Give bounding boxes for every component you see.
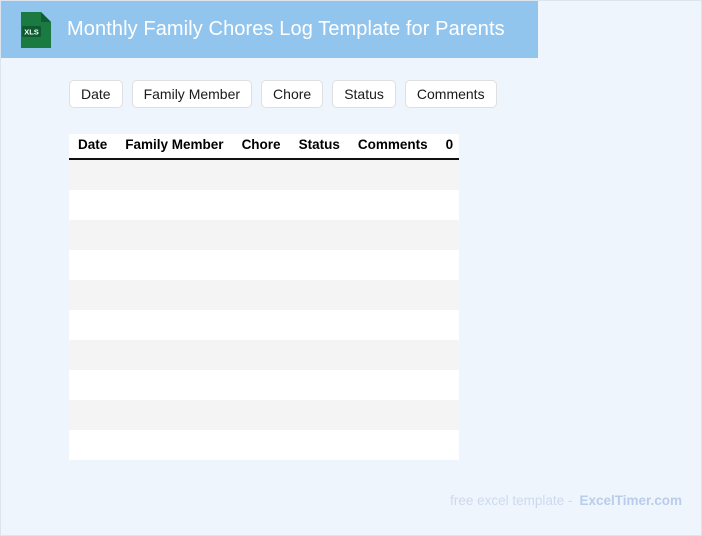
column-header-date[interactable]: Date [69, 134, 116, 159]
table-header: Date Family Member Chore Status Comments… [69, 134, 459, 159]
cell-date[interactable] [69, 340, 116, 370]
cell-family-member[interactable] [116, 159, 232, 190]
cell-count[interactable] [437, 310, 460, 340]
cell-family-member[interactable] [116, 340, 232, 370]
table-body [69, 159, 459, 460]
cell-count[interactable] [437, 370, 460, 400]
cell-date[interactable] [69, 190, 116, 220]
cell-count[interactable] [437, 400, 460, 430]
cell-chore[interactable] [233, 220, 290, 250]
cell-count[interactable] [437, 430, 460, 460]
cell-date[interactable] [69, 310, 116, 340]
cell-status[interactable] [290, 250, 349, 280]
cell-chore[interactable] [233, 280, 290, 310]
cell-date[interactable] [69, 220, 116, 250]
cell-count[interactable] [437, 190, 460, 220]
cell-status[interactable] [290, 159, 349, 190]
page-title: Monthly Family Chores Log Template for P… [67, 18, 505, 41]
cell-chore[interactable] [233, 370, 290, 400]
cell-count[interactable] [437, 220, 460, 250]
header-banner: XLS Monthly Family Chores Log Template f… [1, 1, 538, 58]
cell-comments[interactable] [349, 159, 437, 190]
filter-button-date[interactable]: Date [69, 80, 123, 108]
column-header-chore[interactable]: Chore [233, 134, 290, 159]
table-row[interactable] [69, 370, 459, 400]
cell-chore[interactable] [233, 430, 290, 460]
table-row[interactable] [69, 280, 459, 310]
cell-chore[interactable] [233, 159, 290, 190]
cell-family-member[interactable] [116, 400, 232, 430]
cell-status[interactable] [290, 280, 349, 310]
cell-date[interactable] [69, 370, 116, 400]
cell-date[interactable] [69, 280, 116, 310]
table-header-row: Date Family Member Chore Status Comments… [69, 134, 459, 159]
cell-chore[interactable] [233, 340, 290, 370]
cell-comments[interactable] [349, 340, 437, 370]
cell-comments[interactable] [349, 220, 437, 250]
cell-status[interactable] [290, 340, 349, 370]
cell-count[interactable] [437, 159, 460, 190]
cell-chore[interactable] [233, 400, 290, 430]
chores-log-table: Date Family Member Chore Status Comments… [69, 134, 459, 460]
filter-button-comments[interactable]: Comments [405, 80, 497, 108]
cell-comments[interactable] [349, 190, 437, 220]
table-row[interactable] [69, 250, 459, 280]
cell-date[interactable] [69, 250, 116, 280]
cell-status[interactable] [290, 310, 349, 340]
filter-button-family-member[interactable]: Family Member [132, 80, 252, 108]
svg-text:XLS: XLS [24, 27, 39, 36]
table-row[interactable] [69, 220, 459, 250]
cell-comments[interactable] [349, 430, 437, 460]
column-header-family-member[interactable]: Family Member [116, 134, 232, 159]
table-row[interactable] [69, 340, 459, 370]
cell-status[interactable] [290, 220, 349, 250]
cell-count[interactable] [437, 280, 460, 310]
cell-status[interactable] [290, 430, 349, 460]
table-row[interactable] [69, 310, 459, 340]
footer-label: free excel template - [450, 493, 572, 508]
xls-file-icon: XLS [21, 12, 51, 48]
filter-button-row: Date Family Member Chore Status Comments [69, 80, 497, 108]
column-header-comments[interactable]: Comments [349, 134, 437, 159]
cell-comments[interactable] [349, 310, 437, 340]
table-row[interactable] [69, 190, 459, 220]
filter-button-status[interactable]: Status [332, 80, 396, 108]
cell-chore[interactable] [233, 250, 290, 280]
cell-status[interactable] [290, 190, 349, 220]
cell-date[interactable] [69, 159, 116, 190]
cell-count[interactable] [437, 250, 460, 280]
cell-comments[interactable] [349, 250, 437, 280]
cell-status[interactable] [290, 370, 349, 400]
cell-comments[interactable] [349, 370, 437, 400]
cell-date[interactable] [69, 430, 116, 460]
cell-family-member[interactable] [116, 250, 232, 280]
table-row[interactable] [69, 430, 459, 460]
cell-chore[interactable] [233, 310, 290, 340]
cell-count[interactable] [437, 340, 460, 370]
cell-family-member[interactable] [116, 370, 232, 400]
cell-family-member[interactable] [116, 430, 232, 460]
cell-status[interactable] [290, 400, 349, 430]
cell-family-member[interactable] [116, 280, 232, 310]
table-row[interactable] [69, 400, 459, 430]
cell-family-member[interactable] [116, 190, 232, 220]
filter-button-chore[interactable]: Chore [261, 80, 323, 108]
cell-comments[interactable] [349, 280, 437, 310]
column-header-status[interactable]: Status [290, 134, 349, 159]
cell-date[interactable] [69, 400, 116, 430]
cell-comments[interactable] [349, 400, 437, 430]
cell-family-member[interactable] [116, 310, 232, 340]
footer-attribution: free excel template - ExcelTimer.com [450, 493, 682, 508]
cell-chore[interactable] [233, 190, 290, 220]
cell-family-member[interactable] [116, 220, 232, 250]
footer-brand-link[interactable]: ExcelTimer.com [579, 493, 682, 508]
column-header-count[interactable]: 0 [437, 134, 460, 159]
table-row[interactable] [69, 159, 459, 190]
